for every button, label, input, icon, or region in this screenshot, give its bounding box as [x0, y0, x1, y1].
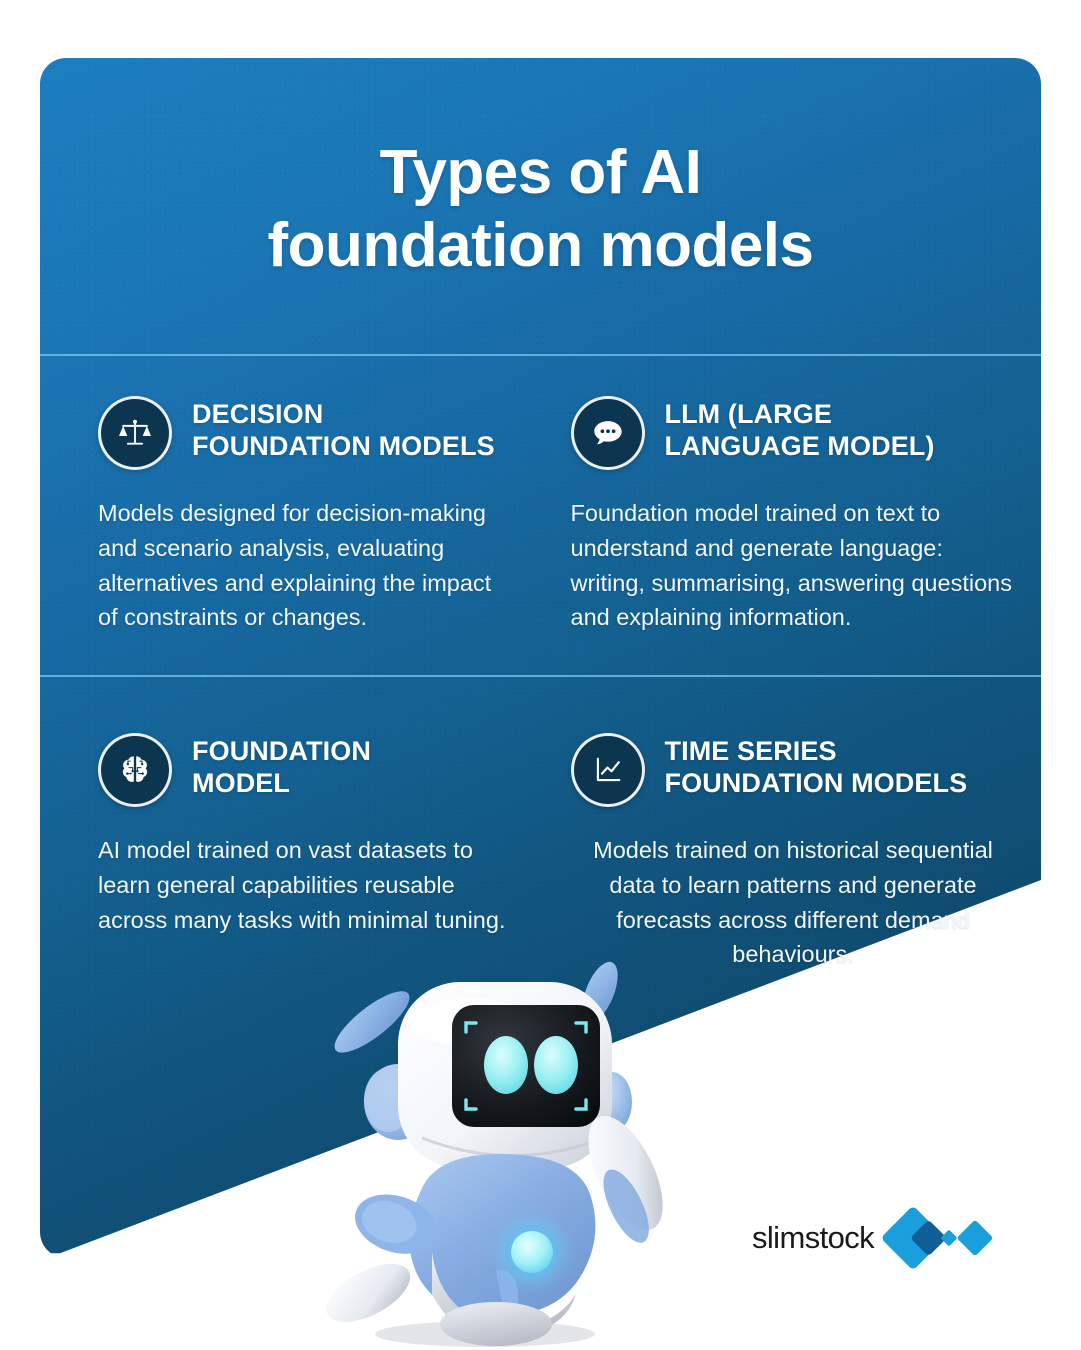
- card-title-line-1: LLM (LARGE: [665, 399, 832, 429]
- line-chart-icon: [571, 733, 645, 807]
- cards-row-2: FOUNDATION MODEL AI model trained on vas…: [40, 691, 1041, 972]
- title-line-2: foundation models: [40, 209, 1041, 282]
- logo-diamond-medium: [957, 1220, 994, 1257]
- title-line-1: Types of AI: [380, 138, 702, 207]
- card-header: LLM (LARGE LANGUAGE MODEL): [571, 394, 1026, 470]
- card-time-series-foundation-models[interactable]: TIME SERIES FOUNDATION MODELS Models tra…: [541, 691, 1042, 972]
- card-body-text: Foundation model trained on text to unde…: [571, 496, 1016, 635]
- card-llm[interactable]: LLM (LARGE LANGUAGE MODEL) Foundation mo…: [541, 354, 1042, 635]
- brain-circuit-icon: [98, 733, 172, 807]
- card-decision-foundation-models[interactable]: DECISION FOUNDATION MODELS Models design…: [40, 354, 541, 635]
- card-title-line-1: TIME SERIES: [665, 736, 837, 766]
- logo-wordmark: slimstock: [752, 1220, 874, 1256]
- robot-mascot: [300, 952, 720, 1350]
- chat-bubble-icon: [571, 396, 645, 470]
- card-title-line-1: DECISION: [192, 399, 323, 429]
- card-body-text: AI model trained on vast datasets to lea…: [98, 833, 517, 937]
- card-title-line-2: FOUNDATION MODELS: [665, 768, 968, 798]
- logo-diamond-large: [881, 1205, 946, 1270]
- card-title: TIME SERIES FOUNDATION MODELS: [665, 731, 968, 800]
- cards-grid: DECISION FOUNDATION MODELS Models design…: [40, 354, 1041, 972]
- logo-diamond-marks: [890, 1215, 988, 1261]
- cards-row-1: DECISION FOUNDATION MODELS Models design…: [40, 354, 1041, 635]
- card-body-text: Models designed for decision-making and …: [98, 496, 517, 635]
- card-title-line-1: FOUNDATION: [192, 736, 371, 766]
- slimstock-logo[interactable]: slimstock: [752, 1215, 988, 1261]
- card-header: FOUNDATION MODEL: [98, 731, 517, 807]
- card-header: TIME SERIES FOUNDATION MODELS: [571, 731, 1026, 807]
- balance-scale-icon: [98, 396, 172, 470]
- card-title-line-2: MODEL: [192, 768, 290, 798]
- card-title-line-2: LANGUAGE MODEL): [665, 431, 935, 461]
- card-title-line-2: FOUNDATION MODELS: [192, 431, 495, 461]
- page-title: Types of AI foundation models: [40, 136, 1041, 282]
- card-title: FOUNDATION MODEL: [192, 731, 371, 800]
- card-title: DECISION FOUNDATION MODELS: [192, 394, 495, 463]
- infographic-canvas: Types of AI foundation models: [0, 0, 1081, 1350]
- card-title: LLM (LARGE LANGUAGE MODEL): [665, 394, 935, 463]
- card-foundation-model[interactable]: FOUNDATION MODEL AI model trained on vas…: [40, 691, 541, 972]
- logo-diamond-small: [941, 1230, 958, 1247]
- card-header: DECISION FOUNDATION MODELS: [98, 394, 517, 470]
